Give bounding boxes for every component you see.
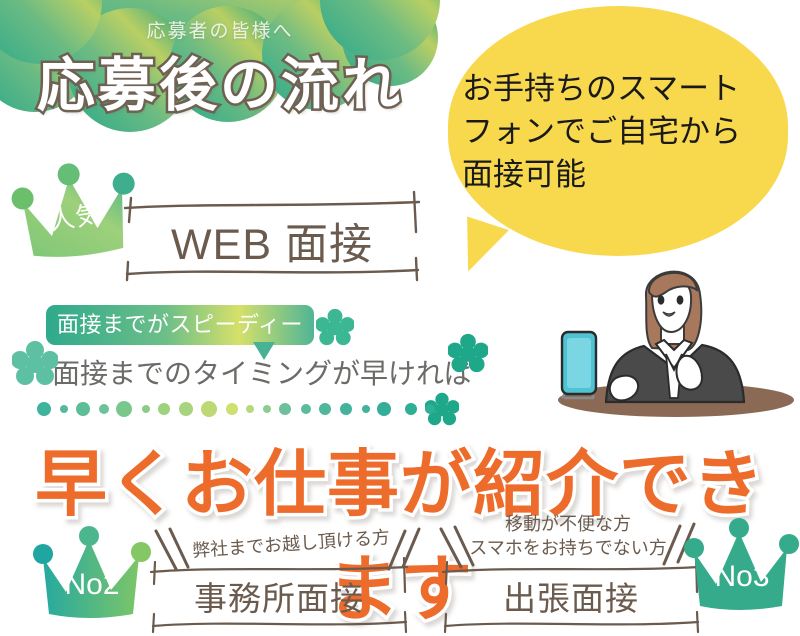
speed-badge: 面接までがスピーディー bbox=[46, 305, 314, 345]
speech-bubble-line-2: フォンでご自宅から bbox=[462, 111, 782, 154]
flower-icon bbox=[12, 340, 58, 386]
dotted-divider bbox=[36, 400, 456, 423]
option-box-office-label: 事務所面接 bbox=[148, 572, 410, 620]
crown-badge-no3-label: No3 bbox=[686, 560, 798, 594]
option-box-web-label: WEB 面接 bbox=[122, 210, 422, 272]
speed-badge-label: 面接までがスピーディー bbox=[46, 305, 314, 345]
annotation-visit: 移動が不便な方 スマホをお持ちでない方 bbox=[455, 512, 681, 561]
speed-subtitle: 面接までのタイミングが早ければ bbox=[52, 352, 472, 392]
flower-icon bbox=[316, 308, 354, 346]
page-title: 応募後の流れ bbox=[0, 38, 440, 122]
flower-icon bbox=[448, 333, 488, 373]
annotation-visit-line-2: スマホをお持ちでない方 bbox=[455, 536, 681, 560]
option-box-office: 事務所面接 bbox=[148, 562, 410, 632]
speech-bubble-line-1: お手持ちのスマート bbox=[462, 68, 782, 111]
annotation-visit-line-1: 移動が不便な方 bbox=[455, 512, 681, 536]
option-box-visit: 出張面接 bbox=[440, 562, 702, 632]
option-box-web: WEB 面接 bbox=[122, 196, 422, 280]
speech-bubble-text: お手持ちのスマート フォンでご自宅から 面接可能 bbox=[462, 68, 782, 196]
crown-badge-no2-label: No2 bbox=[33, 568, 151, 602]
option-box-visit-label: 出張面接 bbox=[440, 572, 702, 620]
crown-badge-no3: No3 bbox=[686, 518, 798, 616]
poster-canvas: 応募者の皆様へ 応募後の流れ お手持ちのスマート フォンでご自宅から 面接可能 … bbox=[0, 0, 800, 636]
speech-bubble-tail bbox=[451, 216, 509, 279]
crown-badge-no2: No2 bbox=[33, 524, 151, 624]
woman-web-interview-illustration bbox=[548, 250, 798, 425]
speech-bubble-line-3: 面接可能 bbox=[462, 154, 782, 197]
